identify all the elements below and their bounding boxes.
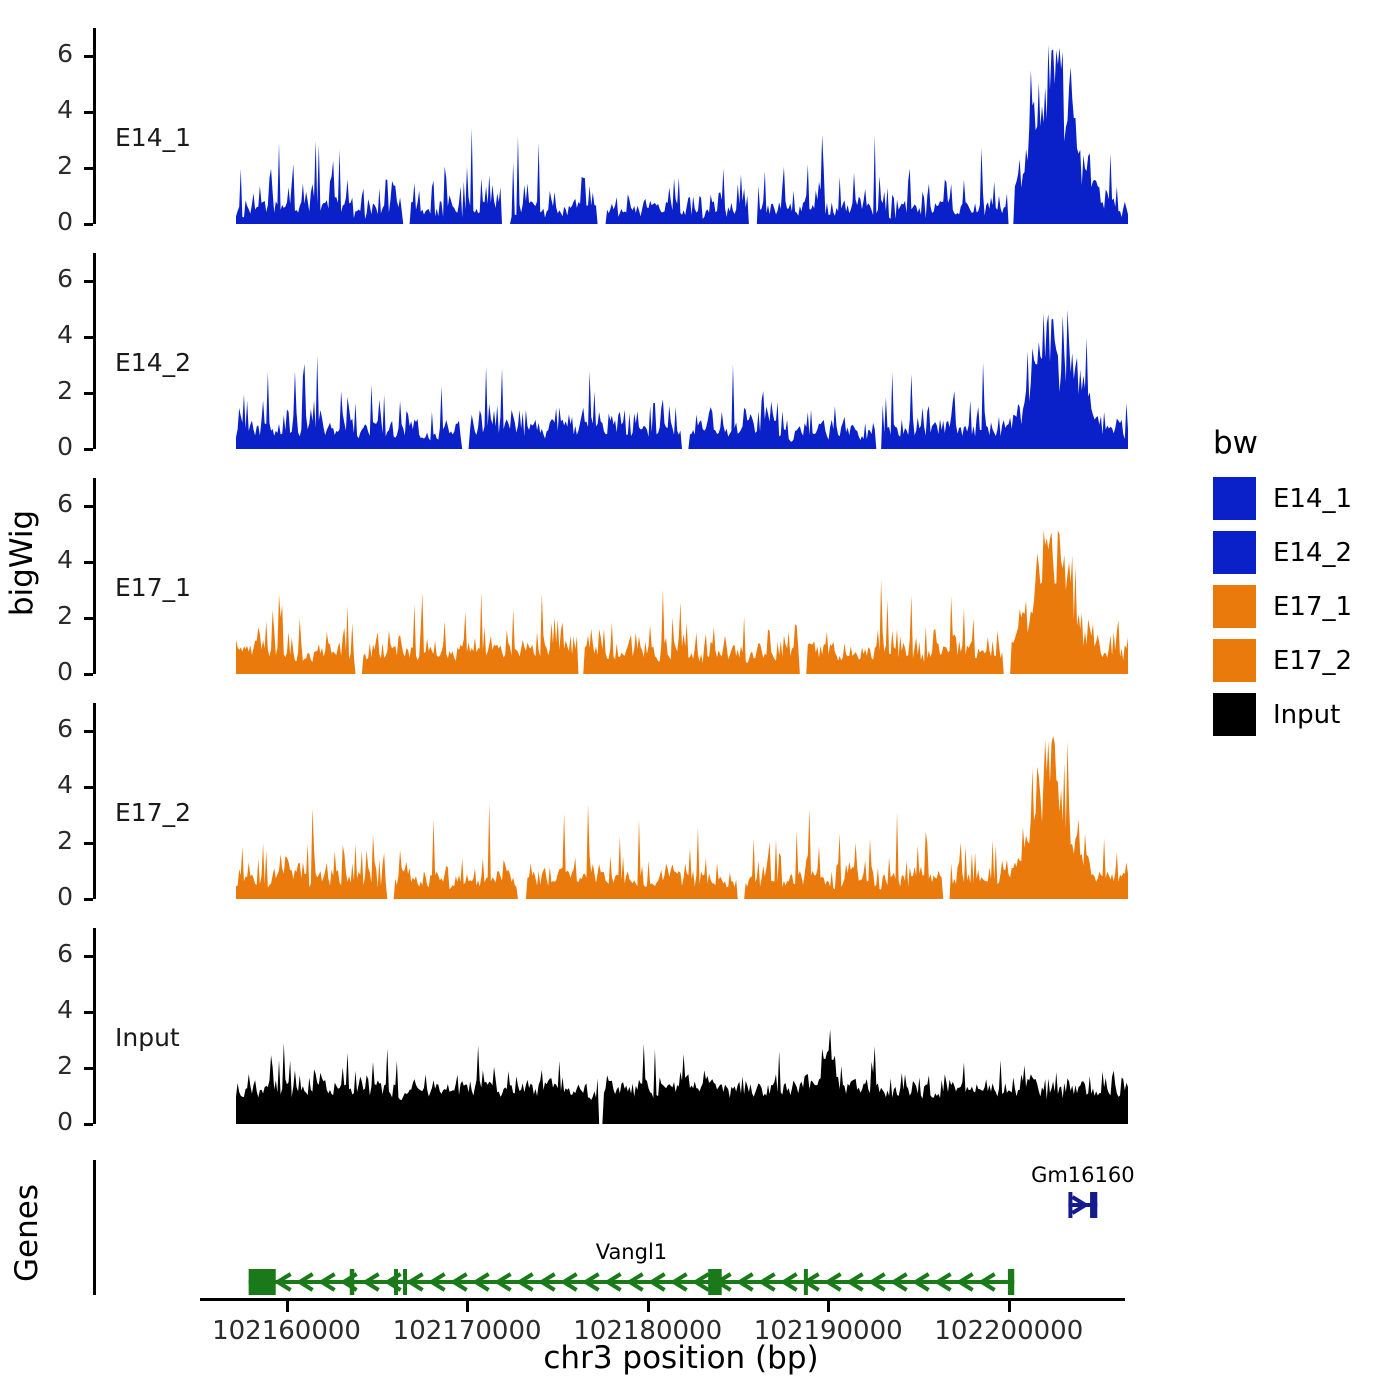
y-axis-tick-label: 6	[15, 264, 73, 293]
y-axis-tick-label: 2	[15, 601, 73, 630]
y-axis-tick	[84, 167, 93, 170]
y-axis-tick	[84, 898, 93, 901]
legend-item-e14_2[interactable]: E14_2	[1213, 531, 1352, 574]
exon-block	[1008, 1269, 1014, 1295]
y-axis-tick	[84, 223, 93, 226]
y-axis-tick-label: 0	[15, 657, 73, 686]
signal-track-input	[93, 928, 1168, 1128]
y-axis-tick-label: 6	[15, 489, 73, 518]
x-axis-tick	[466, 1301, 469, 1312]
legend-item-e17_2[interactable]: E17_2	[1213, 639, 1352, 682]
y-axis-tick	[84, 842, 93, 845]
y-axis-tick	[84, 111, 93, 114]
legend-title: bw	[1213, 425, 1258, 461]
exon-block	[394, 1269, 398, 1295]
y-axis-tick-label: 0	[15, 882, 73, 911]
y-axis-tick	[84, 786, 93, 789]
legend-swatch	[1213, 585, 1256, 628]
x-axis-line	[200, 1298, 1125, 1301]
y-axis-tick	[84, 505, 93, 508]
gene-glyph	[93, 1160, 1168, 1295]
y-axis-tick-label: 2	[15, 826, 73, 855]
y-axis-tick-label: 6	[15, 714, 73, 743]
exon-block	[249, 1269, 276, 1295]
legend-label: E14_2	[1273, 538, 1352, 568]
y-axis-tick	[84, 1011, 93, 1014]
signal-track-e17_1	[93, 478, 1168, 678]
y-axis-tick-label: 4	[15, 995, 73, 1024]
bigwig-panel-e14_2: 0246E14_2	[93, 253, 1168, 449]
bigwig-panel-input: 0246Input	[93, 928, 1168, 1124]
y-axis-tick-label: 4	[15, 95, 73, 124]
y-axis-tick-label: 2	[15, 376, 73, 405]
legend-label: Input	[1273, 700, 1340, 730]
exon-block	[350, 1269, 355, 1295]
legend-item-e14_1[interactable]: E14_1	[1213, 477, 1352, 520]
y-axis-tick-label: 0	[15, 432, 73, 461]
legend-item-e17_1[interactable]: E17_1	[1213, 585, 1352, 628]
signal-track-e14_2	[93, 253, 1168, 453]
y-axis-tick-label: 2	[15, 1051, 73, 1080]
bigwig-panel-e17_2: 0246E17_2	[93, 703, 1168, 899]
exon-block	[708, 1269, 722, 1295]
y-axis-tick-label: 0	[15, 1107, 73, 1136]
y-axis-tick	[84, 55, 93, 58]
bigwig-panel-e17_1: 0246E17_1	[93, 478, 1168, 674]
legend-label: E17_1	[1273, 592, 1352, 622]
y-axis-tick	[84, 673, 93, 676]
legend-label: E17_2	[1273, 646, 1352, 676]
y-axis-tick	[84, 1123, 93, 1126]
y-axis-tick	[84, 392, 93, 395]
genes-panel: Gm16160Vangl1	[93, 1160, 1168, 1295]
x-axis-tick	[827, 1301, 830, 1312]
legend: bw E14_1E14_2E17_1E17_2Input	[1205, 425, 1395, 715]
y-axis-tick-label: 6	[15, 39, 73, 68]
legend-swatch	[1213, 693, 1256, 736]
y-axis-tick-label: 4	[15, 770, 73, 799]
x-axis-tick	[286, 1301, 289, 1312]
gene-vangl1[interactable]: Vangl1	[93, 1160, 1168, 1295]
y-axis-tick-label: 0	[15, 207, 73, 236]
y-axis-tick	[84, 561, 93, 564]
legend-swatch	[1213, 531, 1256, 574]
legend-item-input[interactable]: Input	[1213, 693, 1340, 736]
exon-block	[403, 1269, 407, 1295]
x-axis-tick	[1008, 1301, 1011, 1312]
y-axis-tick-label: 4	[15, 545, 73, 574]
y-axis-tick	[84, 280, 93, 283]
y-axis-tick	[84, 336, 93, 339]
legend-swatch	[1213, 477, 1256, 520]
exon-block	[804, 1269, 808, 1295]
y-axis-tick-label: 6	[15, 939, 73, 968]
signal-track-e14_1	[93, 28, 1168, 228]
x-axis-title: chr3 position (bp)	[236, 1340, 1126, 1376]
bigwig-panel-e14_1: 0246E14_1	[93, 28, 1168, 224]
y-axis-tick-label: 4	[15, 320, 73, 349]
legend-label: E14_1	[1273, 484, 1352, 514]
signal-track-e17_2	[93, 703, 1168, 903]
y-axis-tick-label: 2	[15, 151, 73, 180]
y-axis-tick	[84, 1067, 93, 1070]
genes-axis-title: Genes	[9, 1178, 45, 1288]
legend-swatch	[1213, 639, 1256, 682]
x-axis-tick	[647, 1301, 650, 1312]
y-axis-tick	[84, 448, 93, 451]
y-axis-tick	[84, 617, 93, 620]
y-axis-tick	[84, 955, 93, 958]
gene-label-vangl1: Vangl1	[541, 1240, 721, 1264]
y-axis-tick	[84, 730, 93, 733]
